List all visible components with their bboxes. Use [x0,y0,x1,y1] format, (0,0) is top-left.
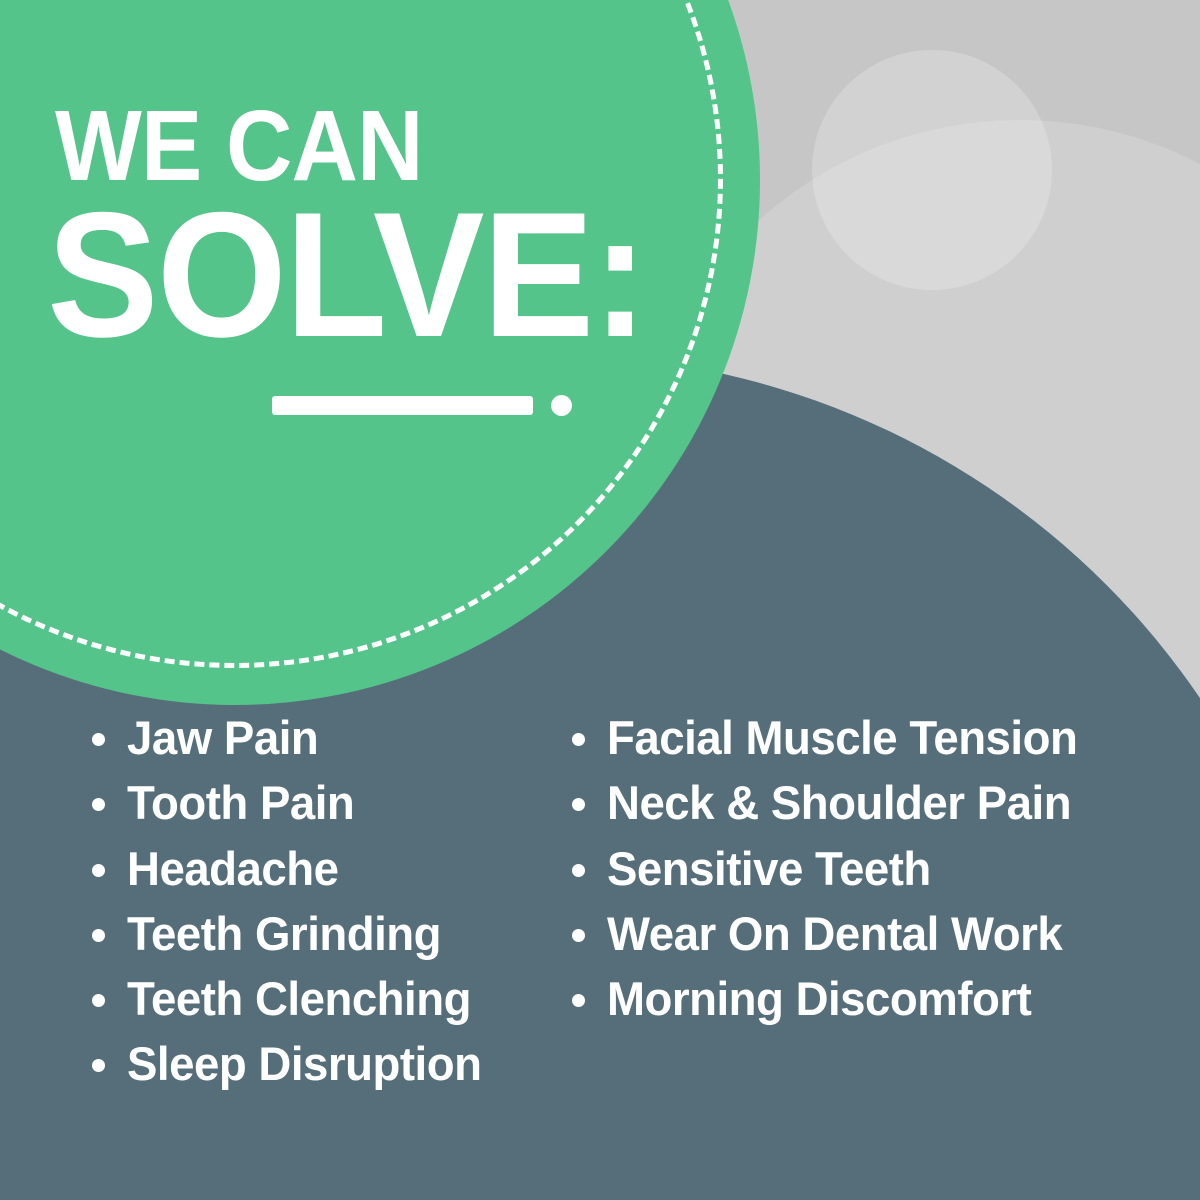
list-item-label: Sleep Disruption [127,1038,481,1090]
list-item-label: Teeth Clenching [127,973,471,1025]
list-item: Morning Discomfort [572,973,1092,1038]
bullet-icon [92,798,105,811]
bullet-icon [572,798,585,811]
symptom-list-left: Jaw Pain Tooth Pain Headache Teeth Grind… [92,712,492,1104]
list-item-label: Teeth Grinding [127,908,441,960]
bullet-icon [572,929,585,942]
list-item-label: Jaw Pain [127,712,318,764]
list-item-label: Headache [127,843,339,895]
symptom-list-right: Facial Muscle Tension Neck & Shoulder Pa… [572,712,1092,1038]
list-item-label: Sensitive Teeth [607,843,931,895]
poster-canvas: WE CAN SOLVE: Jaw Pain Tooth Pain Headac… [0,0,1200,1200]
bullet-icon [92,733,105,746]
list-item: Wear On Dental Work [572,908,1092,973]
list-item: Teeth Grinding [92,908,492,973]
list-item: Sleep Disruption [92,1038,492,1103]
bullet-icon [572,994,585,1007]
list-item: Sensitive Teeth [572,843,1092,908]
list-item: Teeth Clenching [92,973,492,1038]
list-item-label: Neck & Shoulder Pain [607,777,1071,829]
bullet-icon [572,864,585,877]
symptom-lists: Jaw Pain Tooth Pain Headache Teeth Grind… [0,0,1200,1200]
list-item: Tooth Pain [92,777,492,842]
list-item-label: Tooth Pain [127,777,354,829]
list-item: Jaw Pain [92,712,492,777]
list-item: Headache [92,843,492,908]
bullet-icon [92,1059,105,1072]
list-item-label: Wear On Dental Work [607,908,1062,960]
bullet-icon [92,994,105,1007]
list-item: Facial Muscle Tension [572,712,1092,777]
bullet-icon [92,864,105,877]
list-item-label: Facial Muscle Tension [607,712,1077,764]
bullet-icon [92,929,105,942]
list-item: Neck & Shoulder Pain [572,777,1092,842]
bullet-icon [572,733,585,746]
list-item-label: Morning Discomfort [607,973,1031,1025]
